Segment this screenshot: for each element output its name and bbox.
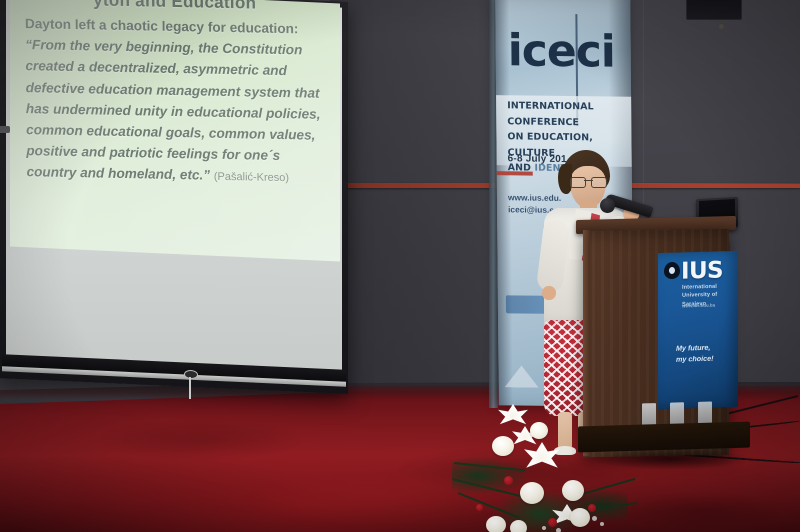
floral-arrangement [452,392,642,532]
ius-tagline-line-2: my choice! [676,353,728,365]
podium-foot [642,403,656,425]
red-accent-flower [548,518,557,527]
podium-foot [670,402,684,424]
rose-flower [570,508,590,527]
wall-accent-stripe-right [636,184,800,188]
red-accent-flower [476,504,483,511]
lily-flower [498,404,528,426]
rose-flower [520,482,544,504]
rose-flower [562,480,584,501]
slide-citation: (Pašalić-Kreso) [214,171,289,184]
slide-body: Dayton left a chaotic legacy for educati… [25,13,327,188]
banner-title-line-1: INTERNATIONAL CONFERENCE [507,98,635,131]
slide-body-line-5: undermined unity in educational policies… [53,101,321,121]
babys-breath [556,528,561,532]
speaker-left-hand [542,286,556,300]
screen-hook-strap [189,377,191,399]
rose-flower [486,516,506,532]
slide-body-line-8: country and homeland, etc.” [26,165,210,184]
podium-foot [698,401,712,423]
rose-flower [492,436,514,456]
iceci-logo: iceci [508,33,580,70]
red-accent-flower [588,504,596,512]
screen-hook-icon [184,370,198,380]
ceiling-speaker-icon [686,0,742,20]
slide-body-line-1: Dayton left a chaotic legacy for educati… [25,16,299,36]
speaker-glasses-bridge [584,180,593,181]
red-accent-flower [504,476,513,485]
babys-breath [542,526,546,530]
rose-flower [530,422,548,439]
ius-tagline: My future, my choice! [676,342,728,365]
speaker-glasses-icon [570,177,607,186]
screen-side-bracket [0,126,10,133]
babys-breath [600,522,604,526]
presentation-slide: yton and Education Dayton left a chaotic… [10,0,340,261]
slide-body-line-6: common educational goals, common values, [26,122,315,143]
ius-url: www.ius.edu.ba [682,303,715,309]
wall-screw [719,24,724,29]
babys-breath [592,516,597,521]
conference-photo-scene: yton and Education Dayton left a chaotic… [0,0,800,532]
slide-title: yton and Education [25,0,325,15]
ius-logo-icon [664,262,680,279]
ius-wordmark: IUS [681,257,723,284]
slide-body-line-7: positive and patriotic feelings for one´… [26,143,280,163]
rose-flower [510,520,527,532]
